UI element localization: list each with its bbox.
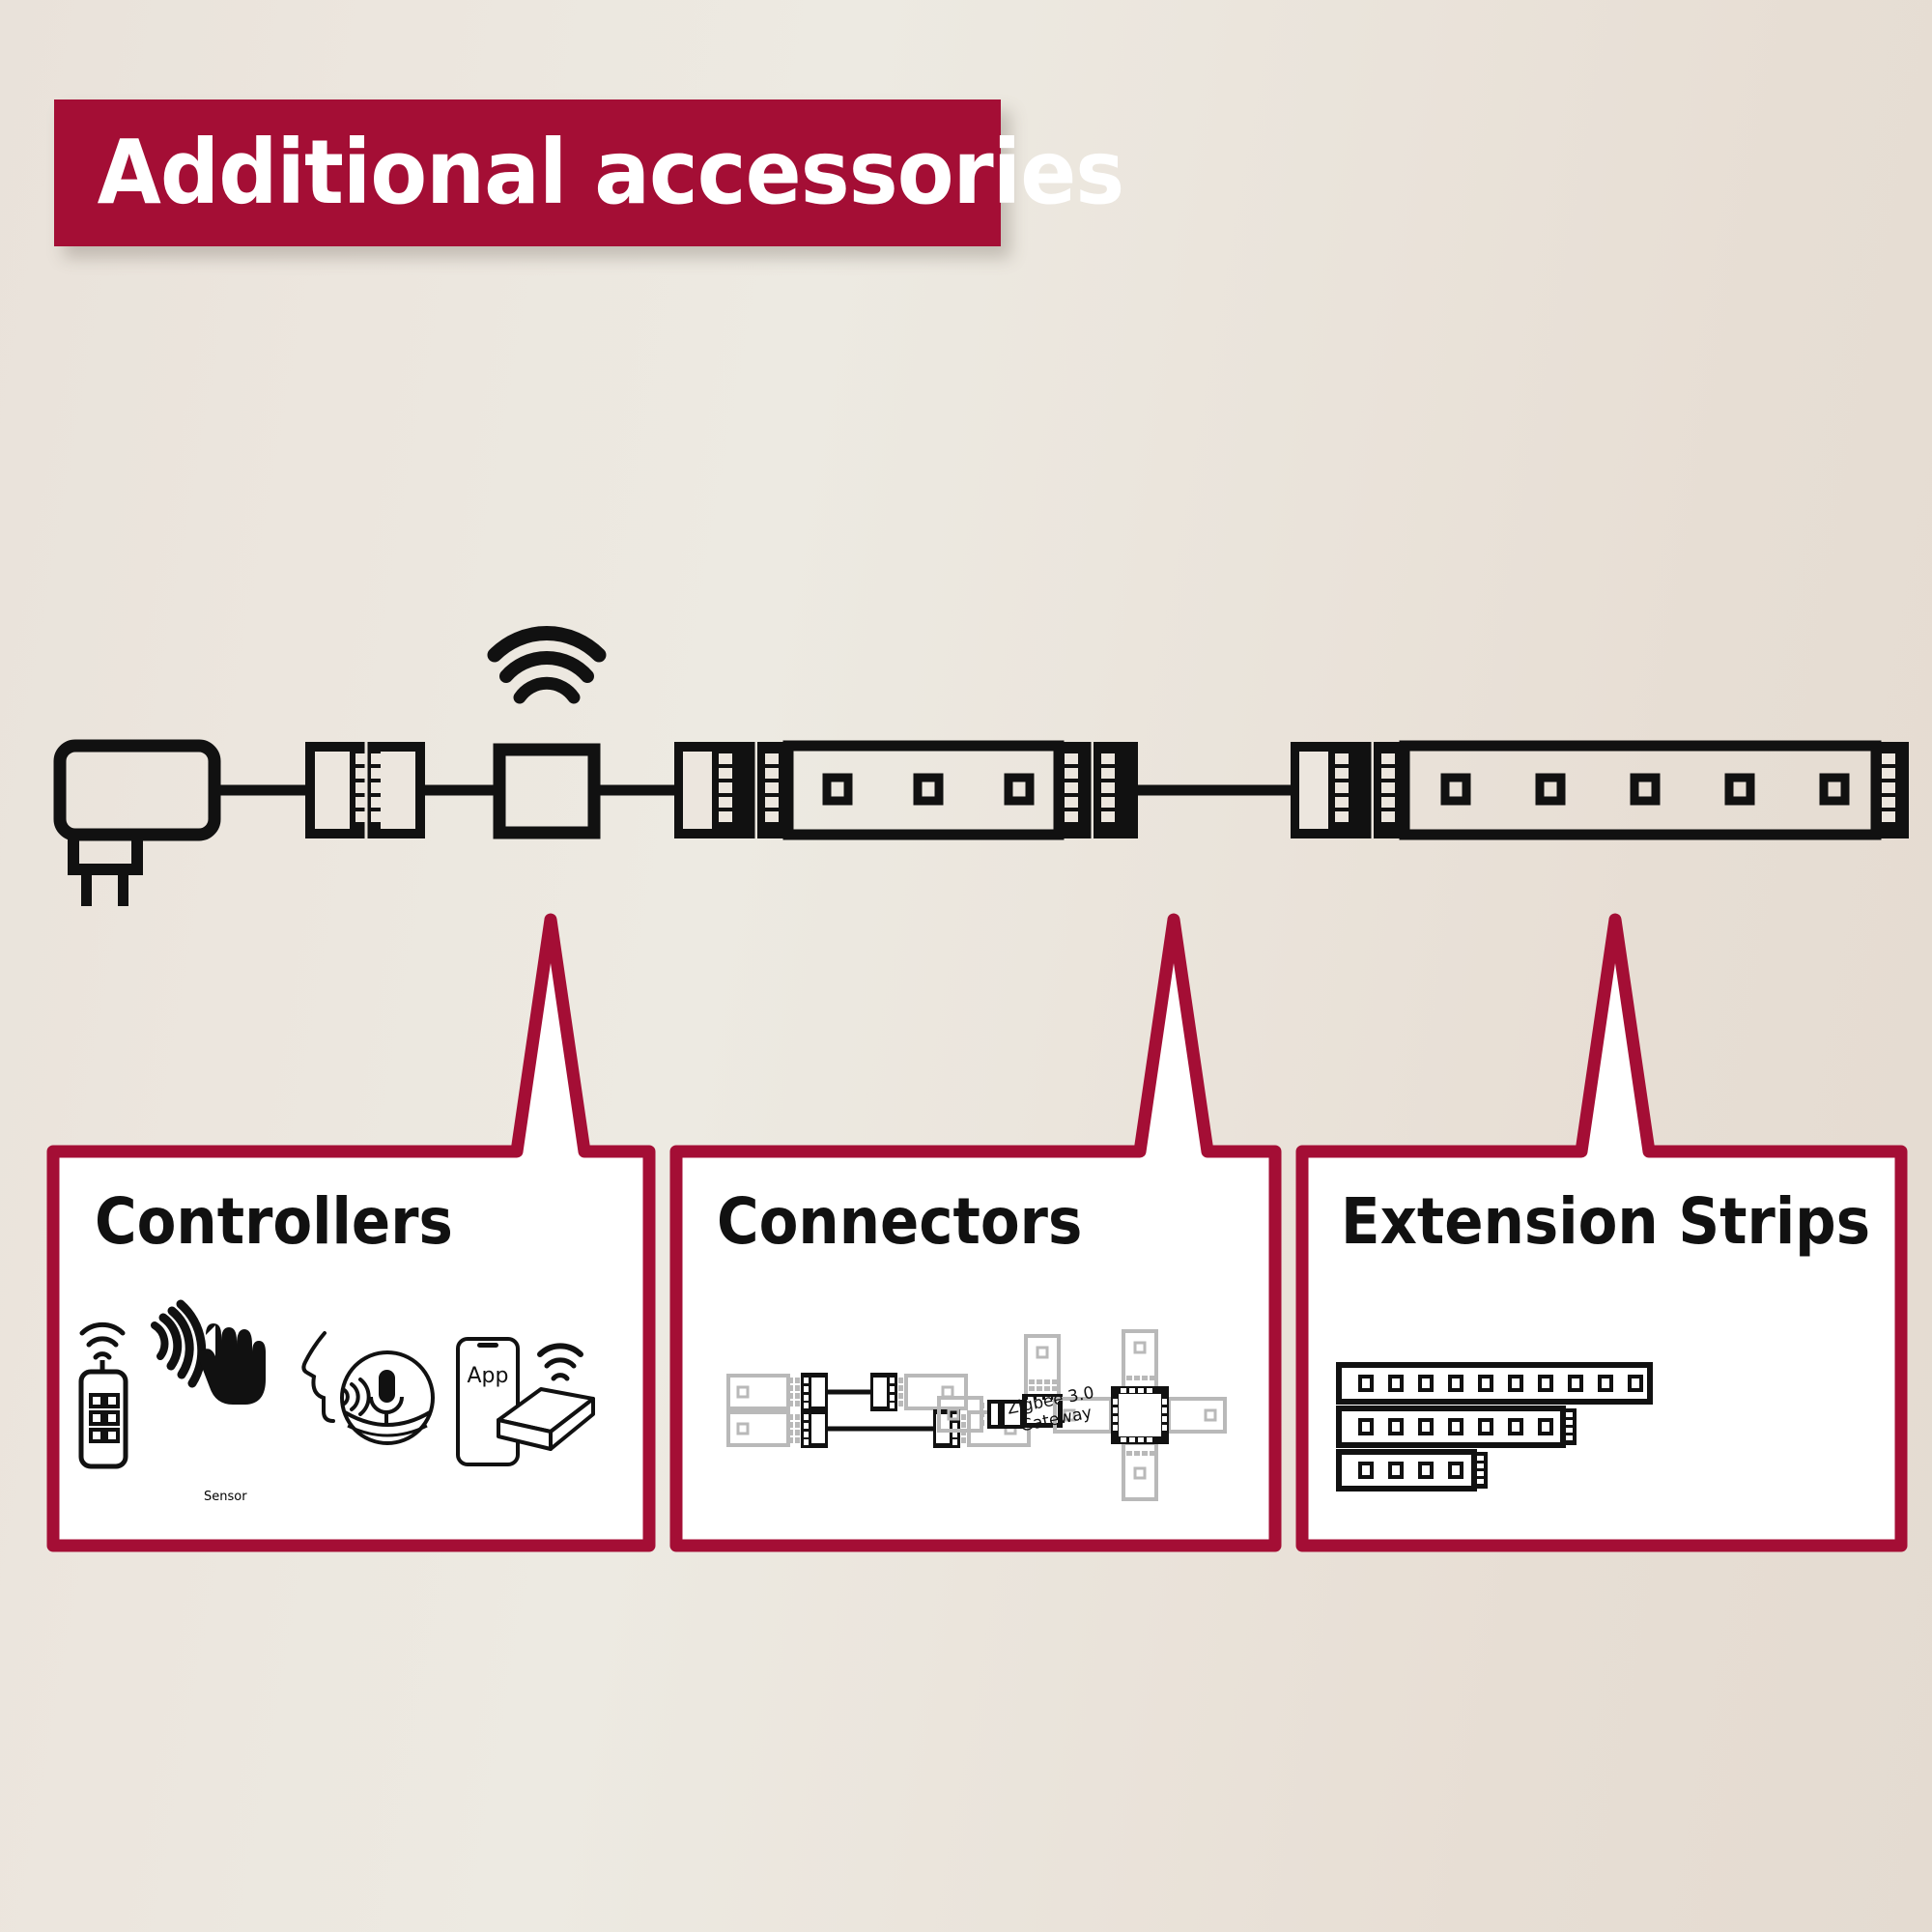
led-strip-1 (674, 742, 1138, 838)
led-square (1445, 778, 1466, 801)
phone-icon (458, 1339, 518, 1464)
led-square (1824, 778, 1845, 801)
phone-notch (477, 1343, 498, 1348)
phone-app-label: App (461, 1364, 515, 1388)
led-square (827, 778, 848, 801)
microphone-icon (379, 1370, 395, 1403)
wifi-icon (495, 633, 599, 697)
led-square (1540, 778, 1561, 801)
power-supply-icon (60, 746, 214, 906)
led-square (1729, 778, 1750, 801)
callout-title-extension-strips: Extension Strips (1341, 1190, 1870, 1254)
led-square (1634, 778, 1656, 801)
led-strip-system-diagram (60, 633, 1909, 906)
illustration-stage: Sensor (0, 0, 1932, 1932)
callout-title-controllers: Controllers (95, 1190, 453, 1254)
sensor-label: Sensor (204, 1490, 247, 1504)
callout-title-connectors: Connectors (717, 1190, 1082, 1254)
connector-block-icon (305, 742, 425, 838)
controller-box-icon (499, 750, 594, 833)
led-square (1009, 778, 1030, 801)
led-strip-2 (1291, 742, 1909, 838)
led-square (918, 778, 939, 801)
